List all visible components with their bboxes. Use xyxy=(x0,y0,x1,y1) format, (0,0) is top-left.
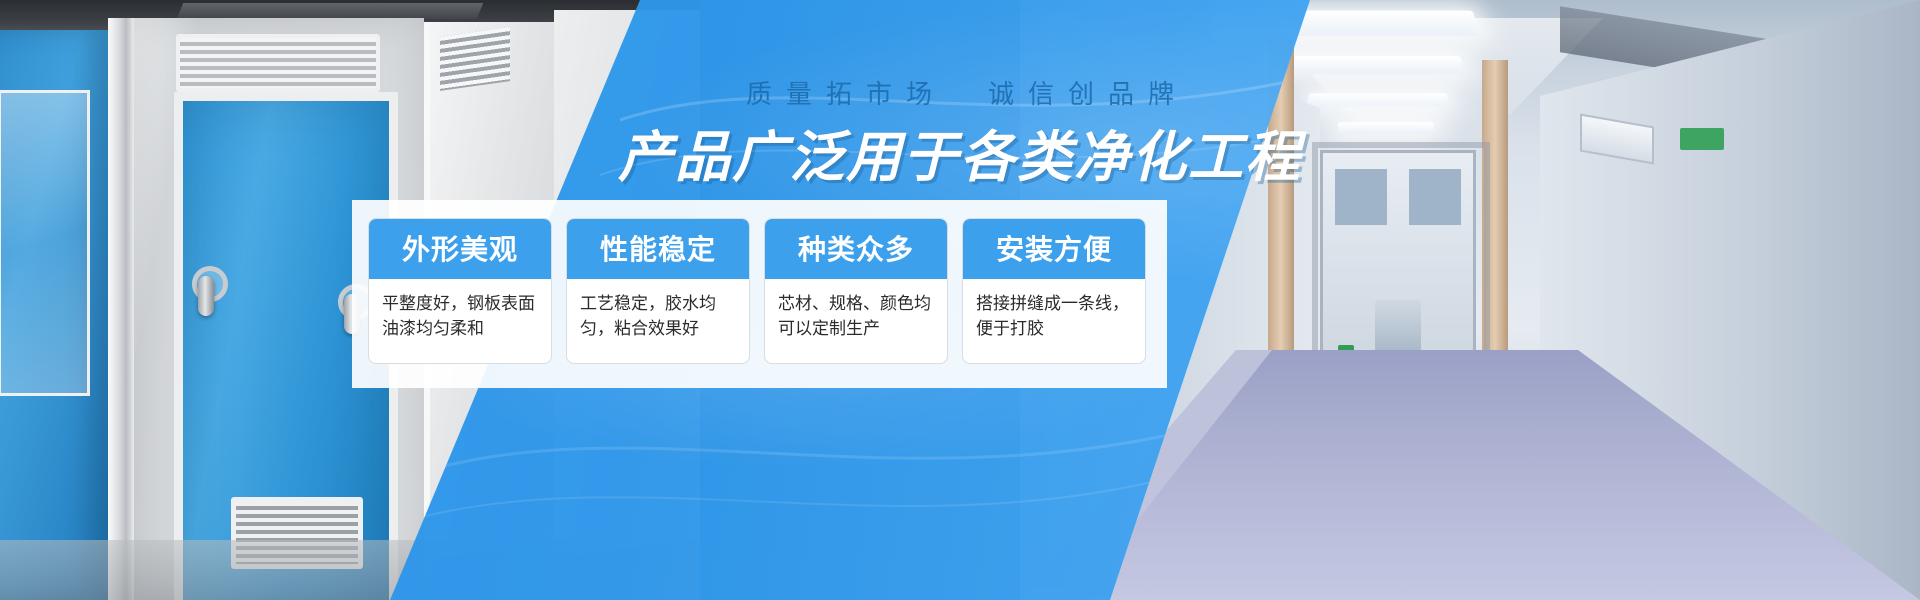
feature-card-title: 安装方便 xyxy=(963,219,1145,279)
feature-card[interactable]: 性能稳定 工艺稳定，胶水均匀，粘合效果好 xyxy=(566,218,750,364)
promo-banner: 质量拓市场诚信创品牌 产品广泛用于各类净化工程 外形美观 平整度好，钢板表面油漆… xyxy=(0,0,1920,600)
feature-card-panel: 外形美观 平整度好，钢板表面油漆均匀柔和 性能稳定 工艺稳定，胶水均匀，粘合效果… xyxy=(352,200,1167,388)
feature-card[interactable]: 种类众多 芯材、规格、颜色均可以定制生产 xyxy=(764,218,948,364)
feature-card-title: 外形美观 xyxy=(369,219,551,279)
banner-tagline: 质量拓市场诚信创品牌 xyxy=(0,74,1920,111)
banner-headline: 产品广泛用于各类净化工程 xyxy=(0,112,1920,192)
feature-card-title: 性能稳定 xyxy=(567,219,749,279)
feature-card[interactable]: 安装方便 搭接拼缝成一条线，便于打胶 xyxy=(962,218,1146,364)
tagline-right-text: 诚信创品牌 xyxy=(988,79,1188,109)
feature-card-title: 种类众多 xyxy=(765,219,947,279)
feature-card-body: 平整度好，钢板表面油漆均匀柔和 xyxy=(369,279,551,363)
feature-card-body: 工艺稳定，胶水均匀，粘合效果好 xyxy=(567,279,749,363)
tagline-left-text: 质量拓市场 xyxy=(746,79,946,109)
feature-card-body: 搭接拼缝成一条线，便于打胶 xyxy=(963,279,1145,363)
feature-card-body: 芯材、规格、颜色均可以定制生产 xyxy=(765,279,947,363)
feature-card[interactable]: 外形美观 平整度好，钢板表面油漆均匀柔和 xyxy=(368,218,552,364)
